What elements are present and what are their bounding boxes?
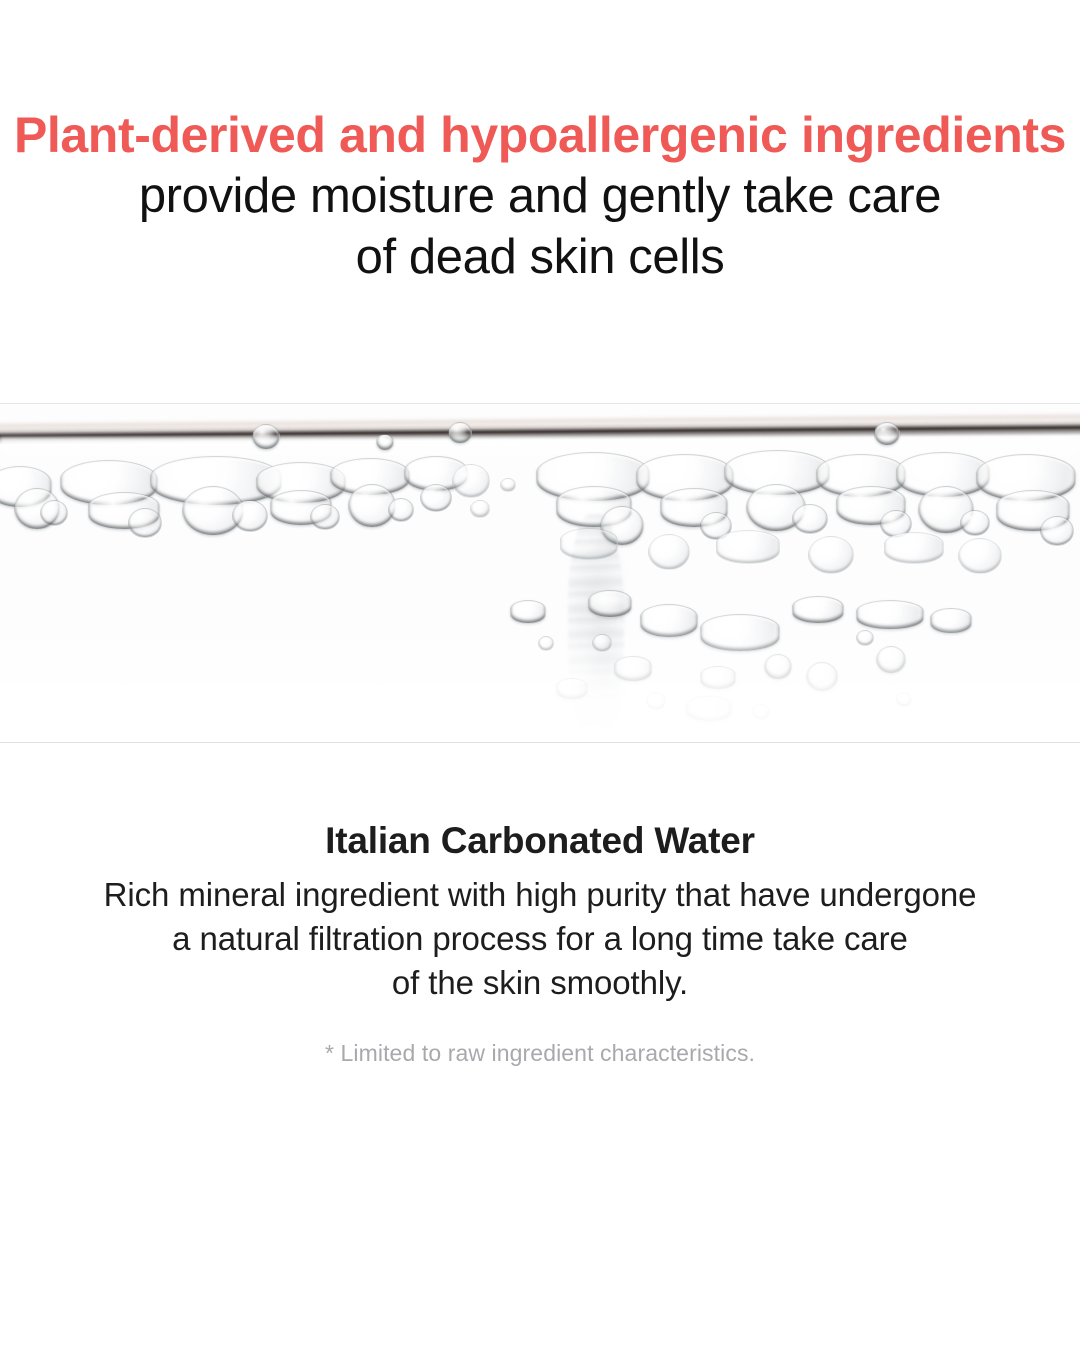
ingredient-caption: Italian Carbonated Water Rich mineral in…: [0, 818, 1080, 1005]
photo-inner: [0, 404, 1080, 742]
footnote-disclaimer: * Limited to raw ingredient characterist…: [0, 1038, 1080, 1068]
product-detail-page: Plant-derived and hypoallergenic ingredi…: [0, 0, 1080, 1350]
ingredient-title: Italian Carbonated Water: [0, 818, 1080, 864]
headline-line-1: Plant-derived and hypoallergenic ingredi…: [0, 104, 1080, 166]
ingredient-description: Rich mineral ingredient with high purity…: [0, 873, 1080, 1005]
headline-line-2: provide moisture and gently take care: [0, 166, 1080, 227]
headline-block: Plant-derived and hypoallergenic ingredi…: [0, 104, 1080, 288]
water-bubbles-photo: [0, 403, 1080, 743]
description-line-2: a natural filtration process for a long …: [0, 917, 1080, 961]
headline-line-3: of dead skin cells: [0, 227, 1080, 288]
description-line-3: of the skin smoothly.: [0, 961, 1080, 1005]
description-line-1: Rich mineral ingredient with high purity…: [0, 873, 1080, 917]
